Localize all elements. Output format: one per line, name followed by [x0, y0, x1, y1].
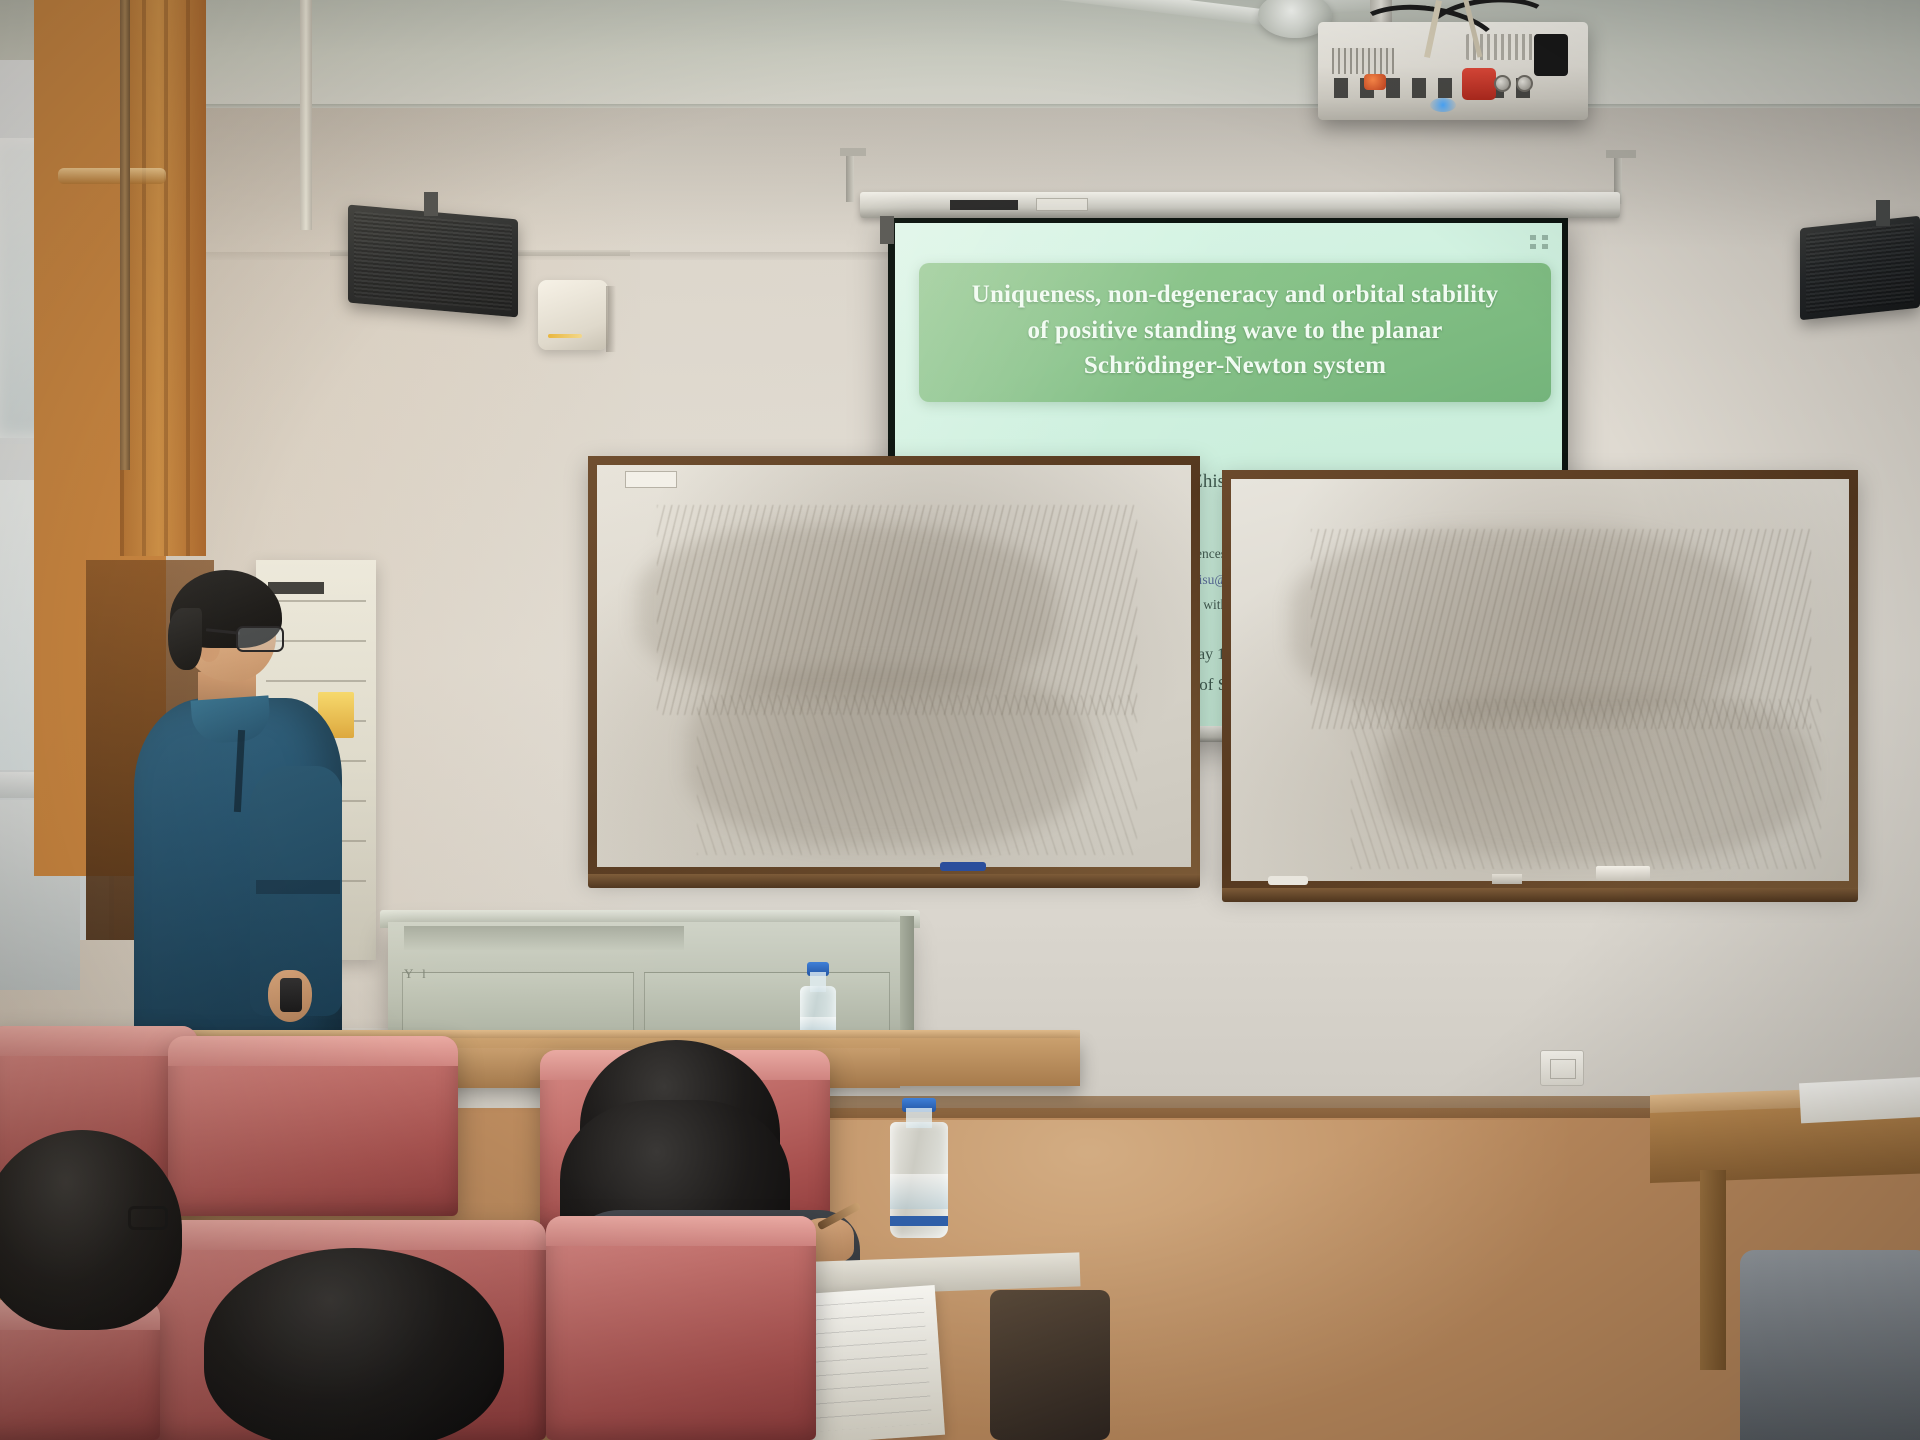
- whiteboard-erased-writing: [657, 505, 1137, 715]
- slide-title-line-2: of positive standing wave to the planar: [937, 313, 1533, 349]
- curtain-tieback[interactable]: [58, 168, 166, 184]
- whiteboard-left-tray: [588, 874, 1200, 888]
- paper-on-side-desk[interactable]: [1799, 1077, 1920, 1124]
- screen-housing-tag: [1036, 198, 1088, 211]
- whiteboard-right-tray: [1222, 888, 1858, 902]
- whiteboard-label-tag: [625, 471, 677, 488]
- slide-title-banner: Uniqueness, non-degeneracy and orbital s…: [919, 263, 1551, 402]
- whiteboard-right: [1222, 470, 1858, 890]
- auditorium-seat[interactable]: [168, 1036, 458, 1216]
- whiteboard-eraser-b[interactable]: [1492, 874, 1522, 884]
- whiteboard-erased-writing: [1351, 699, 1821, 869]
- audience-eyeglasses: [128, 1206, 168, 1230]
- speaker-bracket-right: [1876, 200, 1890, 226]
- seat-headrest: [168, 1036, 458, 1066]
- projector-orange-plug: [1364, 74, 1386, 90]
- screen-housing-sticker: [950, 200, 1018, 210]
- whiteboard-right-surface: [1231, 479, 1849, 881]
- presenter-sleeve: [256, 880, 340, 894]
- podium-marking: Y l: [404, 966, 429, 982]
- projector-cable-connector: [1534, 34, 1568, 76]
- blue-marker[interactable]: [940, 862, 986, 871]
- bottle-label: [890, 1174, 948, 1209]
- speaker-grille: [1806, 222, 1914, 313]
- screen-bracket-left-arm: [840, 148, 866, 156]
- wall-conduit: [300, 0, 312, 230]
- standing-presenter: [140, 580, 360, 1050]
- wall-power-outlet[interactable]: [1540, 1050, 1584, 1086]
- auditorium-seat[interactable]: [546, 1216, 816, 1440]
- side-chair[interactable]: [1740, 1250, 1920, 1440]
- slide-navigation-icon[interactable]: [1530, 235, 1548, 249]
- slide-title-line-1: Uniqueness, non-degeneracy and orbital s…: [937, 277, 1533, 313]
- audience-member-center-head: [204, 1248, 504, 1440]
- screen-roller-housing: [860, 192, 1620, 218]
- wall-speaker-left: [348, 205, 518, 318]
- wireless-access-point: [538, 280, 608, 350]
- backpack[interactable]: [990, 1290, 1110, 1440]
- wall-speaker-right: [1800, 216, 1920, 321]
- seat-headrest: [126, 1220, 546, 1250]
- slide-title-line-3: Schrödinger-Newton system: [937, 348, 1533, 384]
- notebook-ruled-lines: [798, 1298, 932, 1432]
- screen-bracket-right-arm: [1606, 150, 1636, 158]
- screen-side-clip: [880, 216, 894, 244]
- ceiling: [0, 0, 1920, 120]
- access-point-led: [548, 334, 582, 338]
- classroom-scene: Uniqueness, non-degeneracy and orbital s…: [0, 0, 1920, 1440]
- access-point-shadow: [606, 286, 616, 352]
- speaker-bracket-left: [424, 192, 438, 216]
- bottle-label-band: [890, 1216, 948, 1226]
- whiteboard-eraser-a[interactable]: [1596, 866, 1650, 880]
- bottle-body: [890, 1122, 948, 1238]
- screen-bracket-left: [846, 150, 854, 202]
- whiteboard-left: [588, 456, 1200, 876]
- curtain-rail: [120, 0, 130, 470]
- water-bottle-on-desk[interactable]: [890, 1098, 948, 1238]
- side-desk-leg: [1700, 1170, 1726, 1370]
- window-curtain-secondary[interactable]: [120, 0, 206, 556]
- presenter-hair-side: [168, 608, 202, 670]
- podium-recess: [404, 926, 684, 950]
- podium-panel-right[interactable]: [644, 972, 890, 1036]
- speaker-grille: [354, 211, 512, 311]
- eyeglasses: [236, 626, 284, 652]
- white-marker[interactable]: [1268, 876, 1308, 885]
- podium-panel-left[interactable]: [402, 972, 634, 1036]
- projector-power-led: [1430, 98, 1456, 112]
- whiteboard-erased-writing: [697, 695, 1137, 855]
- whiteboard-left-surface: [597, 465, 1191, 867]
- seat-headrest: [546, 1216, 816, 1246]
- presentation-clicker[interactable]: [280, 978, 302, 1012]
